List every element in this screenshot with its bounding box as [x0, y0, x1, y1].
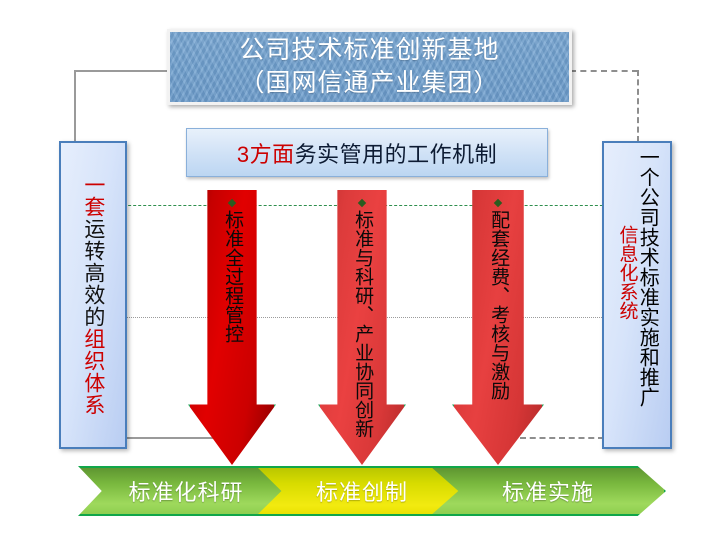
right-box-sub-text: 信息化系统 — [617, 225, 637, 320]
red-arrow-standard-process-control: 标准全过程管控 — [188, 190, 276, 465]
process-step-3-label: 标准实施 — [502, 475, 594, 507]
red-arrow-3-text: 配套经费、考核与激励 — [488, 210, 508, 400]
red-arrow-2-text: 标准与科研、产业协同创新 — [352, 210, 372, 438]
left-box-segment-1: 一套 — [82, 174, 105, 218]
diagram-canvas: 公司技术标准创新基地 （国网信通产业集团） 3方面务实管用的工作机制 一套运转高… — [0, 0, 728, 546]
left-organization-box: 一套运转高效的组织体系 — [59, 141, 127, 449]
process-step-standard-implementation: 标准实施 — [430, 466, 666, 516]
process-chevron-bar: 标准化科研 标准创制 标准实施 — [78, 466, 666, 516]
left-box-segment-2: 运转高效的 — [82, 218, 105, 328]
process-step-1-label: 标准化科研 — [128, 475, 243, 507]
bullet-diamond-icon — [228, 199, 236, 207]
left-box-segment-3: 组织体系 — [82, 328, 105, 416]
connector-banner-to-right-horizontal — [570, 70, 638, 72]
title-banner-line2: （国网信通产业集团） — [239, 67, 499, 100]
left-box-text: 一套运转高效的组织体系 — [82, 174, 104, 416]
red-arrow-funding-assessment-incentive: 配套经费、考核与激励 — [452, 190, 544, 465]
process-step-standard-research: 标准化科研 — [78, 466, 294, 516]
mechanism-box: 3方面务实管用的工作机制 — [186, 128, 548, 177]
right-box-columns: 信息化系统 一个公司技术标准实施和推广 — [617, 143, 658, 447]
right-box-main-black: 公司技术标准实施和推广 — [636, 187, 658, 407]
right-informatization-box: 信息化系统 一个公司技术标准实施和推广 — [602, 141, 672, 449]
title-banner: 公司技术标准创新基地 （国网信通产业集团） — [167, 29, 572, 105]
red-arrow-2-label: 标准与科研、产业协同创新 — [318, 200, 406, 438]
connector-banner-to-right-vertical — [637, 70, 639, 142]
red-arrow-research-industry-innovation: 标准与科研、产业协同创新 — [318, 190, 406, 465]
right-box-main-text: 一个公司技术标准实施和推广 — [636, 147, 657, 407]
red-arrow-1-label: 标准全过程管控 — [188, 200, 276, 343]
process-step-standard-formulation: 标准创制 — [256, 466, 468, 516]
bullet-diamond-icon — [358, 199, 366, 207]
connector-banner-to-left-horizontal — [74, 70, 170, 72]
red-arrow-1-text: 标准全过程管控 — [222, 210, 242, 343]
right-box-main-red: 一个 — [636, 147, 658, 187]
connector-banner-to-left-vertical — [74, 70, 76, 142]
mechanism-rest: 务实管用的工作机制 — [295, 137, 498, 169]
process-step-2-label: 标准创制 — [316, 475, 408, 507]
connector-arrows-to-right-box — [520, 437, 604, 439]
bullet-diamond-icon — [494, 199, 502, 207]
mechanism-highlight: 3方面 — [237, 137, 295, 169]
red-arrow-3-label: 配套经费、考核与激励 — [452, 200, 544, 400]
title-banner-line1: 公司技术标准创新基地 — [239, 34, 499, 67]
